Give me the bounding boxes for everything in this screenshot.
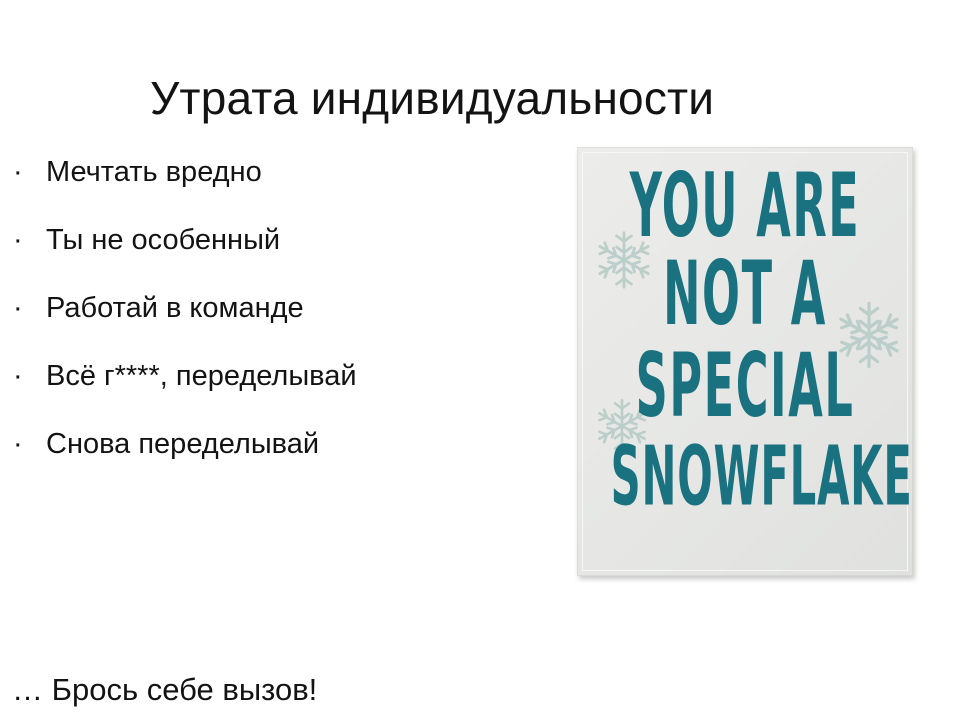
poster-line-2: NOT A — [611, 250, 880, 338]
poster-line-4: SNOWFLAKE — [611, 435, 880, 517]
bullet-list: · Мечтать вредно · Ты не особенный · Раб… — [0, 150, 540, 490]
list-item-label: Всё г****, переделывай — [46, 360, 357, 392]
list-item-label: Ты не особенный — [46, 224, 280, 256]
bullet-marker-icon: · — [13, 286, 25, 330]
poster-text-block: YOU ARE NOT A SPECIAL SNOWFLAKE — [577, 171, 913, 505]
list-item: · Снова переделывай — [0, 422, 540, 490]
list-item: · Всё г****, переделывай — [0, 354, 540, 422]
page-title: Утрата индивидуальности — [150, 69, 850, 127]
list-item: · Ты не особенный — [0, 218, 540, 286]
bullet-marker-icon: · — [13, 218, 25, 262]
list-item: · Мечтать вредно — [0, 150, 540, 218]
list-item-label: Мечтать вредно — [46, 156, 262, 188]
list-item-label: Снова переделывай — [46, 428, 319, 460]
poster-line-1: YOU ARE — [611, 162, 880, 250]
slide-canvas: Утрата индивидуальности · Мечтать вредно… — [0, 0, 960, 720]
poster-image: YOU ARE NOT A SPECIAL SNOWFLAKE — [577, 147, 913, 576]
poster-line-3: SPECIAL — [611, 342, 880, 430]
bullet-marker-icon: · — [13, 354, 25, 398]
bullet-marker-icon: · — [13, 150, 25, 194]
bullet-marker-icon: · — [13, 422, 25, 466]
footer-call-to-action: … Брось себе вызов! — [12, 668, 317, 712]
list-item: · Работай в команде — [0, 286, 540, 354]
list-item-label: Работай в команде — [46, 292, 304, 324]
